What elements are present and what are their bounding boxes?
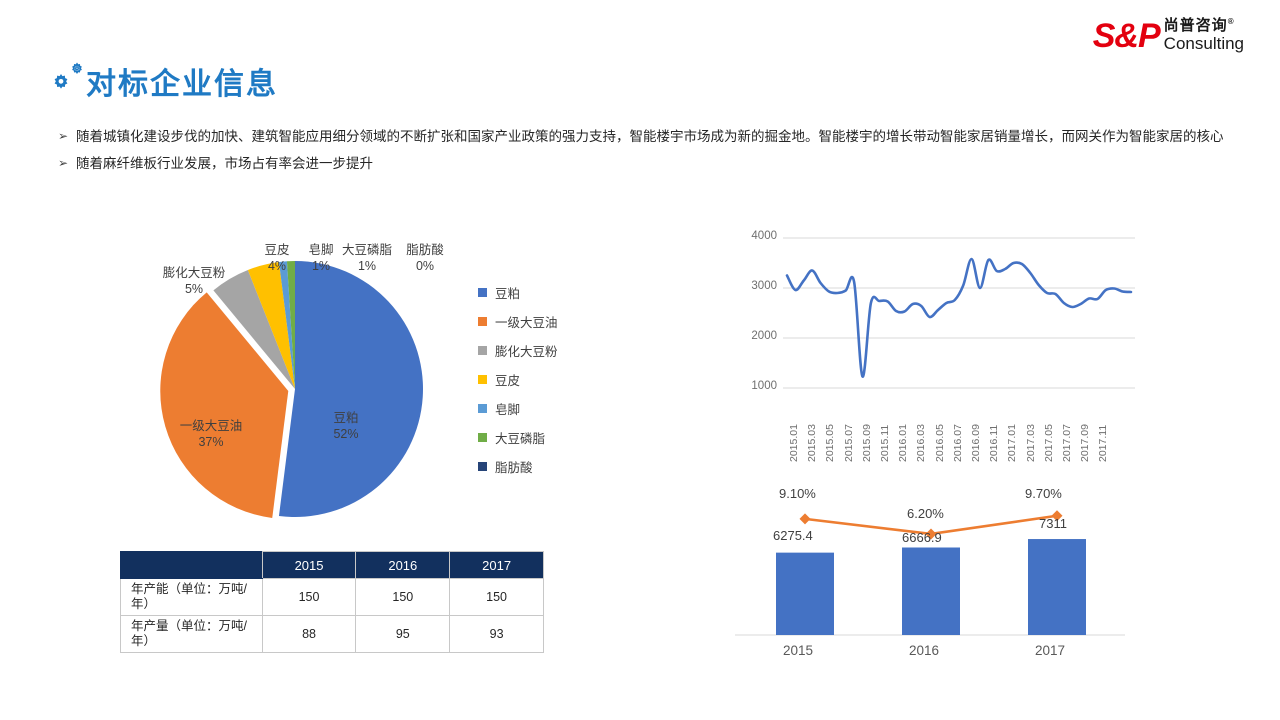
legend-item[interactable]: 膨化大豆粉 xyxy=(478,336,558,365)
legend-swatch-icon xyxy=(478,346,487,355)
x-axis-label: 2017.03 xyxy=(1025,424,1037,462)
legend-swatch-icon xyxy=(478,375,487,384)
gear-icon xyxy=(50,72,72,94)
x-axis-label: 2016.11 xyxy=(988,425,1000,462)
legend-label: 脂肪酸 xyxy=(495,457,533,476)
pie-label-fatty-acid: 脂肪酸0% xyxy=(395,242,455,274)
bullet-item: ➢ 随着麻纤维板行业发展，市场占有率会进一步提升 xyxy=(58,151,1230,176)
value-label-2017: 7311 xyxy=(1039,516,1067,531)
legend-swatch-icon xyxy=(478,317,487,326)
logo-chinese-text: 尚普咨询® xyxy=(1164,14,1244,34)
y-tick-3000: 3000 xyxy=(735,280,777,292)
table-row: 年产量（单位：万吨/年） 88 95 93 xyxy=(121,616,544,653)
legend-item[interactable]: 豆粕 xyxy=(478,278,558,307)
x-axis-label: 2017.01 xyxy=(1006,424,1018,462)
company-logo: S&P 尚普咨询® Consulting xyxy=(1093,14,1244,53)
legend-swatch-icon xyxy=(478,288,487,297)
table-cell: 150 xyxy=(356,579,450,616)
growth-label-2015: 9.10% xyxy=(779,486,816,501)
pie-label-soy-hull: 豆皮4% xyxy=(254,242,300,274)
page-title: 对标企业信息 xyxy=(86,68,278,102)
y-tick-2000: 2000 xyxy=(735,330,777,342)
legend-item[interactable]: 皂脚 xyxy=(478,394,558,423)
line-chart-x-axis: 2015.012015.032015.052015.072015.092015.… xyxy=(778,396,1108,466)
bullet-arrow-icon: ➢ xyxy=(58,124,76,149)
value-label-2016: 6666.9 xyxy=(902,530,942,545)
bullet-arrow-icon: ➢ xyxy=(58,151,76,176)
legend-item[interactable]: 脂肪酸 xyxy=(478,452,558,481)
x-axis-label: 2016.01 xyxy=(897,424,909,462)
legend-label: 一级大豆油 xyxy=(495,312,558,331)
x-axis-label: 2016.05 xyxy=(934,424,946,462)
bar[interactable] xyxy=(902,547,960,635)
legend-swatch-icon xyxy=(478,404,487,413)
table-row-label: 年产量（单位：万吨/年） xyxy=(121,616,263,653)
bar[interactable] xyxy=(1028,539,1086,635)
y-tick-4000: 4000 xyxy=(735,230,777,242)
x-axis-label: 2017.09 xyxy=(1079,424,1091,462)
page-title-block: 对标企业信息 xyxy=(44,58,278,102)
legend-item[interactable]: 一级大豆油 xyxy=(478,307,558,336)
line-marker[interactable] xyxy=(800,513,811,524)
x-axis-label: 2015.01 xyxy=(788,424,800,462)
x-axis-label: 2015.05 xyxy=(824,424,836,462)
bar[interactable] xyxy=(776,553,834,635)
output-growth-combo-chart: 9.10% 6.20% 9.70% 6275.4 6666.9 7311 201… xyxy=(735,480,1135,665)
registered-mark-icon: ® xyxy=(1228,17,1235,26)
legend-item[interactable]: 大豆磷脂 xyxy=(478,423,558,452)
y-tick-1000: 1000 xyxy=(735,380,777,392)
legend-label: 皂脚 xyxy=(495,399,520,418)
table-cell: 150 xyxy=(262,579,356,616)
table-header-blank xyxy=(121,552,263,579)
category-label-2016: 2016 xyxy=(909,643,939,658)
pie-label-soybean-meal: 豆粕52% xyxy=(320,410,372,442)
pie-label-grade1-soybean-oil: 一级大豆油37% xyxy=(168,418,254,450)
line-series-path xyxy=(787,259,1131,377)
bullet-item: ➢ 随着城镇化建设步伐的加快、建筑智能应用细分领域的不断扩张和国家产业政策的强力… xyxy=(58,124,1230,149)
pie-label-puffed-soy-flour: 膨化大豆粉5% xyxy=(146,265,242,297)
bullet-text: 随着城镇化建设步伐的加快、建筑智能应用细分领域的不断扩张和国家产业政策的强力支持… xyxy=(76,124,1230,149)
capacity-table: 2015 2016 2017 年产能（单位：万吨/年） 150 150 150 … xyxy=(120,551,544,653)
legend-label: 豆粕 xyxy=(495,283,520,302)
logo-brand-text: S&P xyxy=(1093,19,1160,53)
x-axis-label: 2015.11 xyxy=(879,425,891,462)
value-label-2015: 6275.4 xyxy=(773,528,813,543)
x-axis-label: 2017.05 xyxy=(1043,424,1055,462)
pie-slice[interactable] xyxy=(279,261,423,517)
table-header-2017: 2017 xyxy=(450,552,544,579)
category-label-2015: 2015 xyxy=(783,643,813,658)
category-label-2017: 2017 xyxy=(1035,643,1065,658)
table-header-row: 2015 2016 2017 xyxy=(121,552,544,579)
gear-outline-icon xyxy=(70,62,84,76)
legend-item[interactable]: 豆皮 xyxy=(478,365,558,394)
table-cell: 88 xyxy=(262,616,356,653)
table-cell: 95 xyxy=(356,616,450,653)
x-axis-label: 2016.07 xyxy=(952,424,964,462)
x-axis-label: 2015.09 xyxy=(861,424,873,462)
growth-label-2016: 6.20% xyxy=(907,506,944,521)
legend-label: 大豆磷脂 xyxy=(495,428,545,447)
x-axis-label: 2016.03 xyxy=(915,424,927,462)
x-axis-label: 2017.11 xyxy=(1097,425,1109,462)
bullet-list: ➢ 随着城镇化建设步伐的加快、建筑智能应用细分领域的不断扩张和国家产业政策的强力… xyxy=(58,124,1230,178)
gears-decoration xyxy=(44,58,90,102)
logo-english-text: Consulting xyxy=(1164,34,1244,53)
table-cell: 93 xyxy=(450,616,544,653)
legend-label: 豆皮 xyxy=(495,370,520,389)
x-axis-label: 2015.07 xyxy=(843,424,855,462)
growth-label-2017: 9.70% xyxy=(1025,486,1062,501)
legend-label: 膨化大豆粉 xyxy=(495,341,558,360)
x-axis-label: 2015.03 xyxy=(806,424,818,462)
table-header-2016: 2016 xyxy=(356,552,450,579)
bullet-text: 随着麻纤维板行业发展，市场占有率会进一步提升 xyxy=(76,151,1230,176)
legend-swatch-icon xyxy=(478,433,487,442)
price-line-chart-svg xyxy=(783,236,1135,396)
x-axis-label: 2017.07 xyxy=(1061,424,1073,462)
table-row-label: 年产能（单位：万吨/年） xyxy=(121,579,263,616)
legend-swatch-icon xyxy=(478,462,487,471)
pie-legend: 豆粕 一级大豆油 膨化大豆粉 豆皮 皂脚 大豆磷脂 脂肪酸 xyxy=(478,278,558,481)
table-row: 年产能（单位：万吨/年） 150 150 150 xyxy=(121,579,544,616)
x-axis-label: 2016.09 xyxy=(970,424,982,462)
table-header-2015: 2015 xyxy=(262,552,356,579)
table-cell: 150 xyxy=(450,579,544,616)
pie-label-soy-lecithin: 大豆磷脂1% xyxy=(332,242,402,274)
